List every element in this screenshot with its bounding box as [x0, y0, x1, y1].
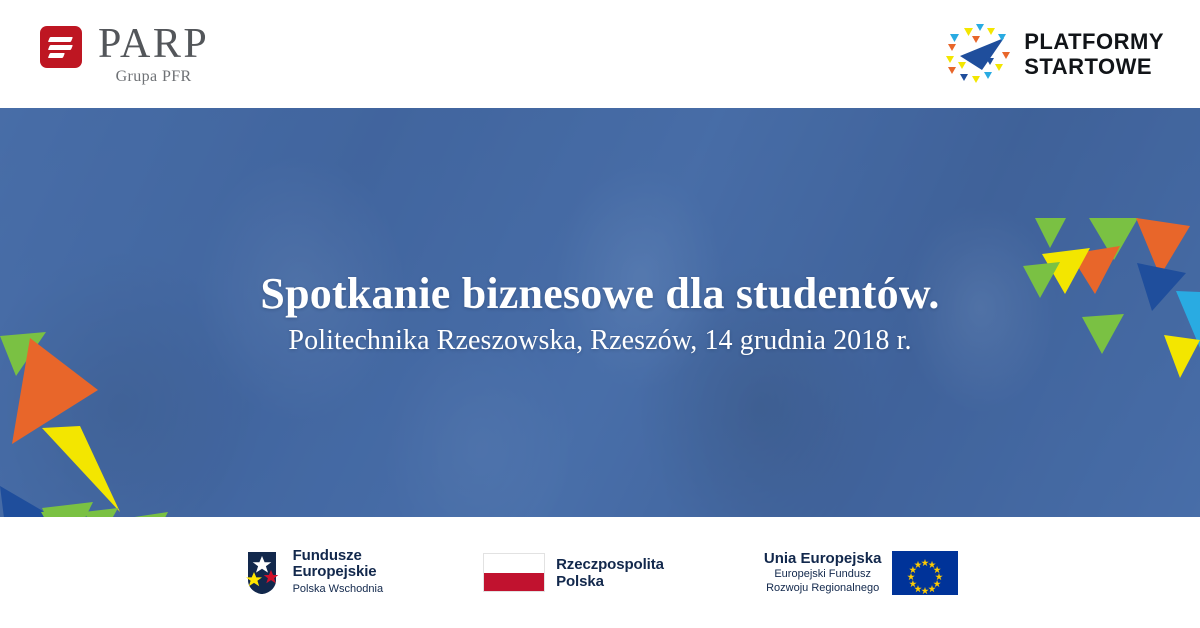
- rzeczpospolita-line-1: Rzeczpospolita: [556, 556, 664, 573]
- platformy-line-2: STARTOWE: [1024, 54, 1164, 79]
- unia-line-3: Rozwoju Regionalnego: [764, 581, 882, 595]
- platformy-startowe-mark-icon: [942, 18, 1014, 90]
- fundusze-europejskie-mark-icon: [242, 550, 282, 596]
- hero-banner: Spotkanie biznesowe dla studentów. Polit…: [0, 108, 1200, 517]
- unia-europejska-logo: Unia Europejska Europejski Fundusz Rozwo…: [764, 550, 959, 595]
- parp-subtitle: Grupa PFR: [98, 68, 209, 86]
- top-bar: PARP Grupa PFR: [0, 0, 1200, 108]
- parp-wordmark: PARP: [98, 22, 209, 66]
- rzeczpospolita-polska-logo: Rzeczpospolita Polska: [483, 553, 664, 592]
- parp-logo[interactable]: PARP Grupa PFR: [40, 22, 209, 86]
- footer-logos: Fundusze Europejskie Polska Wschodnia Rz…: [0, 517, 1200, 628]
- fundusze-line-3: Polska Wschodnia: [293, 582, 384, 597]
- fundusze-line-1: Fundusze: [293, 548, 384, 564]
- hero-title: Spotkanie biznesowe dla studentów.: [260, 268, 939, 319]
- fundusze-europejskie-logo: Fundusze Europejskie Polska Wschodnia: [242, 548, 384, 597]
- hero-subtitle: Politechnika Rzeszowska, Rzeszów, 14 gru…: [288, 325, 911, 357]
- parp-mark-icon: [40, 26, 82, 68]
- eu-flag-icon: [892, 551, 958, 595]
- unia-line-1: Unia Europejska: [764, 550, 882, 567]
- fundusze-line-2: Europejskie: [293, 564, 384, 580]
- unia-line-2: Europejski Fundusz: [764, 567, 882, 581]
- hero-text-block: Spotkanie biznesowe dla studentów. Polit…: [0, 108, 1200, 517]
- polish-flag-icon: [483, 553, 545, 592]
- platformy-startowe-logo[interactable]: PLATFORMY STARTOWE: [942, 18, 1164, 90]
- rzeczpospolita-line-2: Polska: [556, 573, 664, 590]
- platformy-line-1: PLATFORMY: [1024, 29, 1164, 54]
